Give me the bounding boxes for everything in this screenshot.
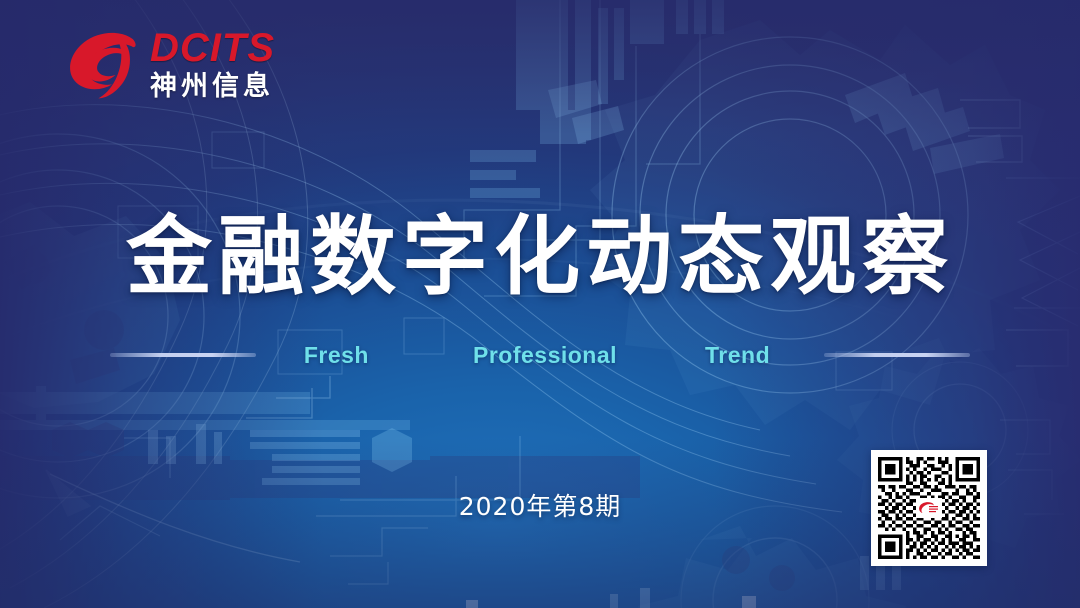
poster-canvas: DCITS 神州信息 金融数字化动态观察 Fresh Professional … xyxy=(0,0,1080,608)
brand-name-en: DCITS xyxy=(150,28,275,68)
keyword-trend: Trend xyxy=(705,342,770,369)
brand-name-cn: 神州信息 xyxy=(150,73,275,100)
keyword-row: Fresh Professional Trend xyxy=(0,341,1080,369)
dcits-swoosh-mark-icon xyxy=(64,28,142,100)
keyword-labels: Fresh Professional Trend xyxy=(304,342,770,369)
brand-logo-text: DCITS 神州信息 xyxy=(150,28,275,100)
wechat-qr-code[interactable] xyxy=(871,450,987,566)
dcits-mini-logo-icon xyxy=(916,498,942,518)
page-title: 金融数字化动态观察 xyxy=(0,186,1080,311)
keyword-fresh: Fresh xyxy=(304,342,369,369)
brand-logo: DCITS 神州信息 xyxy=(64,28,275,100)
keyword-professional: Professional xyxy=(473,342,617,369)
keyword-rule-right xyxy=(824,353,970,357)
keyword-rule-left xyxy=(110,353,256,357)
